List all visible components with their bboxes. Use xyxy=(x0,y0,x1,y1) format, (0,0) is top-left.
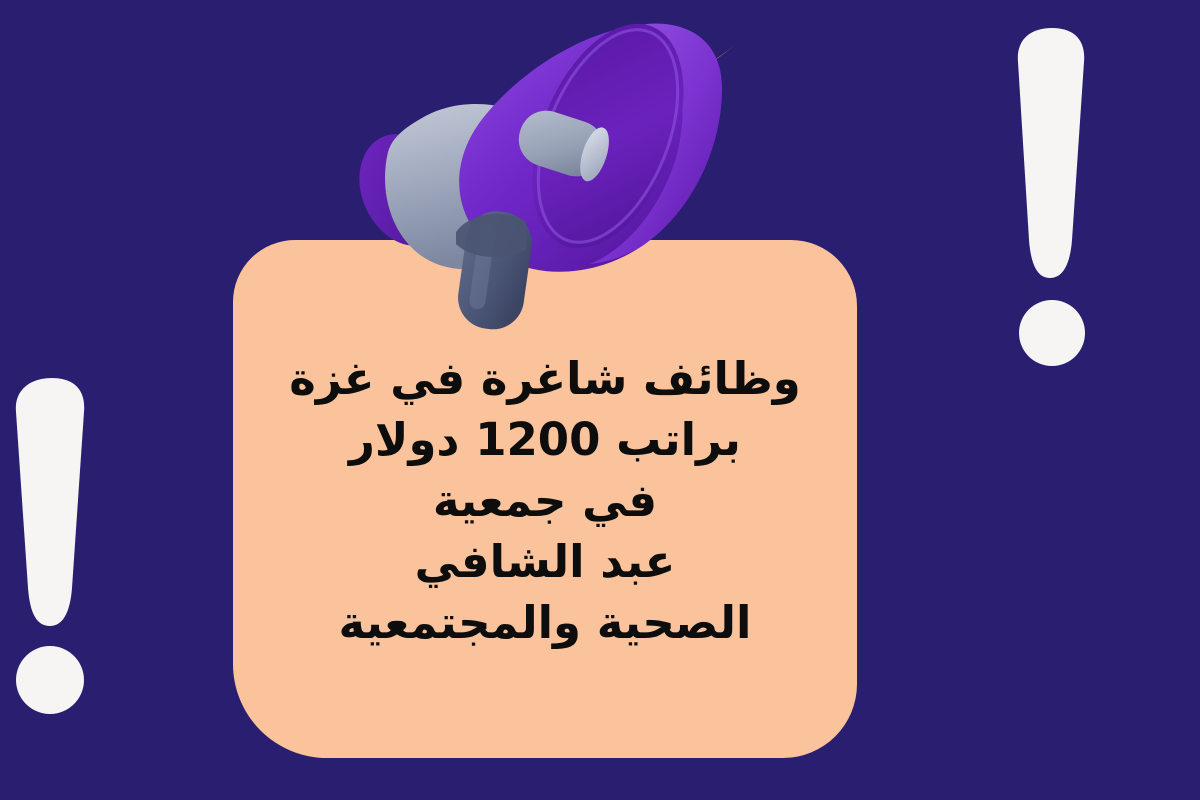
announcement-line-3: في جمعية xyxy=(233,470,857,531)
announcement-line-1: وظائف شاغرة في غزة xyxy=(233,348,857,409)
announcement-poster: وظائف شاغرة في غزة براتب 1200 دولار في ج… xyxy=(0,0,1200,800)
exclamation-dot-left xyxy=(16,646,84,714)
announcement-text-block: وظائف شاغرة في غزة براتب 1200 دولار في ج… xyxy=(233,348,857,653)
megaphone-icon xyxy=(330,0,750,330)
announcement-line-4: عبد الشافي xyxy=(233,531,857,592)
exclamation-stem-left xyxy=(12,378,90,628)
exclamation-dot-right xyxy=(1019,300,1085,366)
exclamation-stem-right xyxy=(1014,28,1090,280)
exclamation-mark-left-icon xyxy=(8,378,118,723)
announcement-line-5: الصحية والمجتمعية xyxy=(233,592,857,653)
exclamation-mark-right-icon xyxy=(1008,28,1118,398)
announcement-line-2: براتب 1200 دولار xyxy=(233,409,857,470)
